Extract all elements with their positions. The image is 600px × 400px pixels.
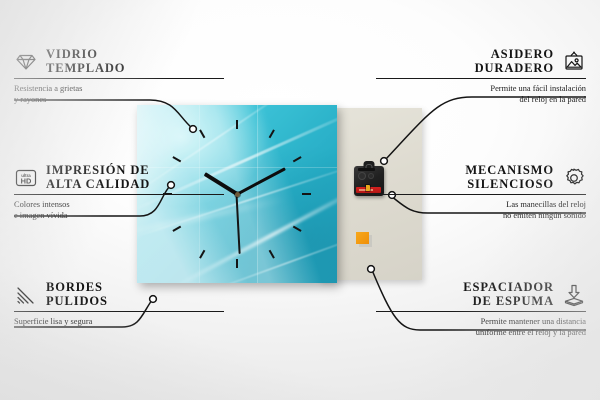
feature-bordes-pulidos: BORDES PULIDOS Superficie lisa y segura xyxy=(14,281,224,327)
feature-title-line2: ALTA CALIDAD xyxy=(46,178,150,192)
battery-cap xyxy=(366,185,370,191)
polished-edges-icon xyxy=(14,283,38,307)
feature-desc-line1: Las manecillas del reloj xyxy=(376,199,586,210)
feature-title-line1: ESPACIADOR xyxy=(463,281,554,295)
tick-8 xyxy=(172,226,181,232)
feature-impresion-alta-calidad: ultra HD IMPRESIÓN DE ALTA CALIDAD Color… xyxy=(14,164,224,221)
diamond-icon xyxy=(14,50,38,74)
feature-desc-line1: Resistencia a grietas xyxy=(14,83,224,94)
feature-title-line1: BORDES xyxy=(46,281,108,295)
picture-frame-hanger-icon xyxy=(562,50,586,74)
tick-2 xyxy=(293,156,302,162)
feature-desc-line2: no emiten ningún sonido xyxy=(376,210,586,221)
feature-rule xyxy=(376,78,586,79)
feature-title-line1: IMPRESIÓN DE xyxy=(46,164,150,178)
tick-12 xyxy=(236,120,238,129)
feature-rule xyxy=(14,78,224,79)
tick-1 xyxy=(269,129,275,138)
feature-title-line1: ASIDERO xyxy=(475,48,554,62)
feature-desc-line1: Permite una fácil instalación xyxy=(376,83,586,94)
feature-desc-line2: del reloj en la pared xyxy=(376,94,586,105)
feature-desc-line1: Colores intensos xyxy=(14,199,224,210)
feature-desc-line1: Superficie lisa y segura xyxy=(14,316,224,327)
feature-title-line1: VIDRIO xyxy=(46,48,125,62)
feature-desc-line2: y rayones xyxy=(14,94,224,105)
tick-7 xyxy=(199,250,205,259)
svg-text:HD: HD xyxy=(21,176,32,185)
feature-rule xyxy=(376,311,586,312)
hands-cap xyxy=(235,192,240,197)
feature-vidrio-templado: VIDRIO TEMPLADO Resistencia a grietas y … xyxy=(14,48,224,105)
tick-10 xyxy=(172,156,181,162)
feature-desc-line1: Permite mantener una distancia xyxy=(376,316,586,327)
feature-title-line1: MECANISMO xyxy=(465,164,554,178)
feature-desc-line2: e imagen vívida xyxy=(14,210,224,221)
gear-icon xyxy=(562,166,586,190)
product-infographic: VIDRIO TEMPLADO Resistencia a grietas y … xyxy=(0,0,600,400)
feature-mecanismo-silencioso: MECANISMO SILENCIOSO Las manecillas del … xyxy=(376,164,586,221)
feature-asidero-duradero: ASIDERO DURADERO Permite una fácil insta… xyxy=(376,48,586,105)
feature-rule xyxy=(14,194,224,195)
feature-title-line2: DURADERO xyxy=(475,62,554,76)
feature-title-line2: TEMPLADO xyxy=(46,62,125,76)
ultra-hd-icon: ultra HD xyxy=(14,166,38,190)
foam-spacer-arrow-icon xyxy=(562,283,586,307)
tick-5 xyxy=(269,250,275,259)
foam-spacer-pad xyxy=(356,232,369,244)
movement-dial-secondary xyxy=(368,173,374,179)
tick-6 xyxy=(236,259,238,268)
feature-desc-line2: uniforme entre el reloj y la pared xyxy=(376,327,586,338)
feature-title-line2: DE ESPUMA xyxy=(463,295,554,309)
feature-espaciador-de-espuma: ESPACIADOR DE ESPUMA Permite mantener un… xyxy=(376,281,586,338)
feature-rule xyxy=(14,311,224,312)
feature-rule xyxy=(376,194,586,195)
feature-title-line2: SILENCIOSO xyxy=(465,178,554,192)
tick-11 xyxy=(199,129,205,138)
movement-slot xyxy=(358,168,375,171)
tick-3 xyxy=(302,193,311,195)
tick-4 xyxy=(293,226,302,232)
movement-dial xyxy=(358,172,366,180)
feature-title-line2: PULIDOS xyxy=(46,295,108,309)
